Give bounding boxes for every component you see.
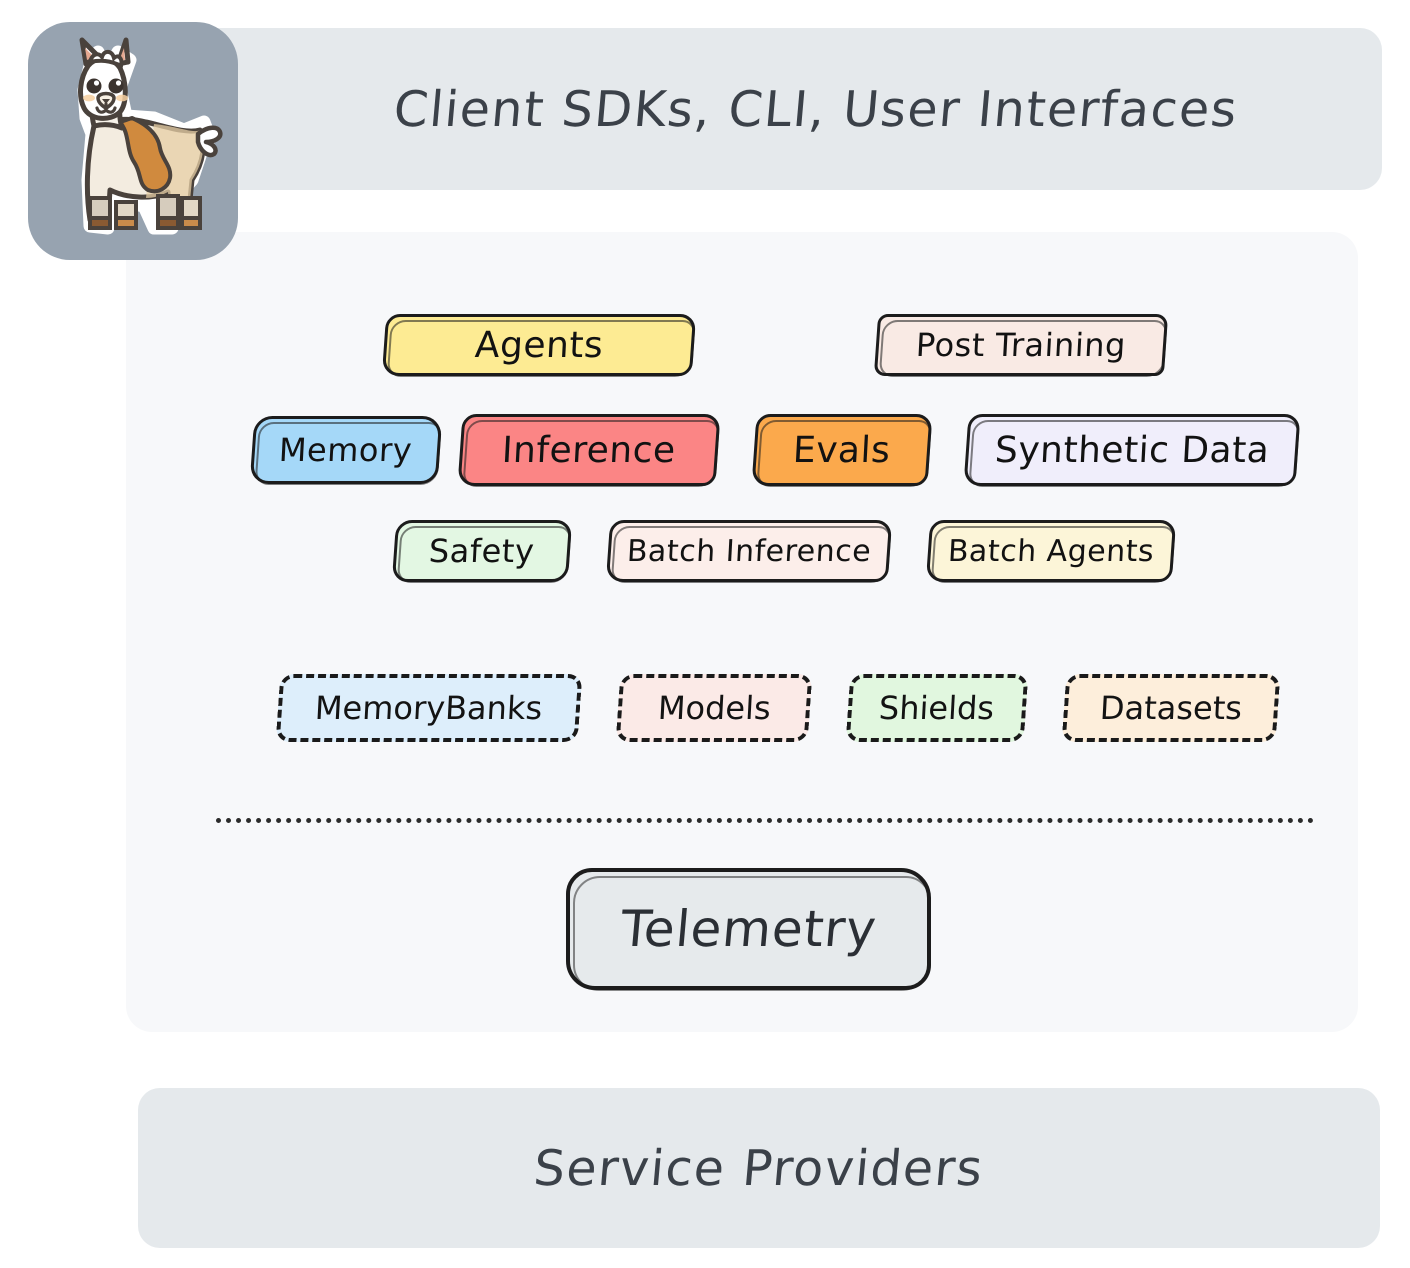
resource-row: MemoryBanks Models Shields Datasets: [278, 674, 1278, 742]
service-providers-banner: Service Providers: [138, 1088, 1380, 1248]
telemetry-label: Telemetry: [618, 900, 879, 958]
api-box-evals-label: Evals: [792, 430, 892, 471]
resource-box-models-label: Models: [657, 689, 772, 727]
api-box-inference[interactable]: Inference: [457, 414, 720, 486]
telemetry-box[interactable]: Telemetry: [566, 868, 931, 990]
resource-box-memorybanks[interactable]: MemoryBanks: [276, 674, 583, 742]
api-box-safety[interactable]: Safety: [392, 520, 572, 582]
resource-box-models[interactable]: Models: [616, 674, 813, 742]
resource-box-datasets[interactable]: Datasets: [1062, 674, 1281, 742]
resource-box-shields-label: Shields: [878, 689, 995, 727]
footer-title: Service Providers: [532, 1140, 986, 1197]
api-box-batch-agents[interactable]: Batch Agents: [926, 520, 1176, 582]
llama-icon: [34, 30, 232, 252]
api-row-1: Agents Post Training: [384, 314, 1166, 376]
resource-box-datasets-label: Datasets: [1099, 689, 1243, 727]
api-box-post-training[interactable]: Post Training: [874, 314, 1168, 376]
api-box-synthetic-data-label: Synthetic Data: [994, 430, 1271, 471]
dotted-separator: [216, 818, 1314, 823]
resource-box-memorybanks-label: MemoryBanks: [314, 689, 543, 727]
api-box-batch-inference-label: Batch Inference: [626, 534, 872, 569]
api-box-evals[interactable]: Evals: [751, 414, 932, 486]
client-layer-banner: Client SDKs, CLI, User Interfaces: [170, 28, 1382, 190]
api-box-inference-label: Inference: [501, 430, 677, 471]
api-row-3: Safety Batch Inference Batch Agents: [394, 520, 1174, 582]
api-box-memory[interactable]: Memory: [250, 416, 443, 484]
api-box-agents-label: Agents: [474, 325, 604, 366]
api-box-synthetic-data[interactable]: Synthetic Data: [963, 414, 1300, 486]
api-box-memory-label: Memory: [278, 431, 413, 469]
resource-box-shields[interactable]: Shields: [846, 674, 1029, 742]
api-box-batch-inference[interactable]: Batch Inference: [606, 520, 892, 582]
api-box-agents[interactable]: Agents: [382, 314, 696, 376]
api-box-batch-agents-label: Batch Agents: [947, 534, 1155, 569]
api-box-safety-label: Safety: [428, 532, 535, 570]
api-row-2: Memory Inference Evals Synthetic Data: [252, 414, 1298, 486]
page-title: Client SDKs, CLI, User Interfaces: [392, 81, 1241, 138]
llama-logo-tile: [28, 22, 238, 260]
api-box-post-training-label: Post Training: [915, 326, 1127, 364]
